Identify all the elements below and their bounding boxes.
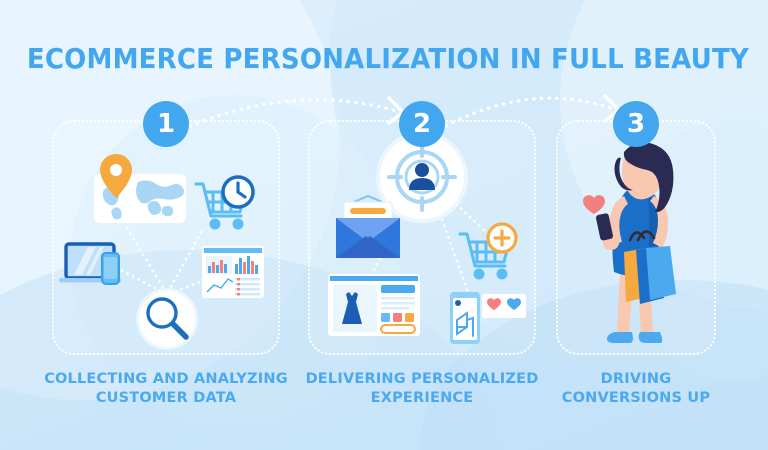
caption-line: COLLECTING AND ANALYZING [26, 370, 306, 389]
laptop-phone-icon [59, 244, 121, 284]
shoe-icon [639, 332, 663, 343]
caption-line: CONVERSIONS UP [550, 389, 722, 408]
step1-illustration [54, 122, 278, 353]
step2-illustration [310, 122, 534, 353]
product-page-dress-icon [328, 274, 420, 336]
step-panel-3 [556, 120, 716, 355]
heart-icon [583, 195, 605, 214]
infographic-canvas: ECOMMERCE PERSONALIZATION IN FULL BEAUTY [0, 0, 768, 450]
step-badge-3[interactable]: 3 [613, 101, 659, 147]
step-panel-1 [52, 120, 280, 355]
step-panel-2 [308, 120, 536, 355]
caption-line: DELIVERING PERSONALIZED [296, 370, 548, 389]
shopper-woman-illustration [583, 142, 676, 343]
page-title: ECOMMERCE PERSONALIZATION IN FULL BEAUTY [27, 42, 741, 75]
step-caption-1: COLLECTING AND ANALYZING CUSTOMER DATA [26, 370, 306, 408]
caption-line: CUSTOMER DATA [26, 389, 306, 408]
email-envelope-icon [336, 196, 400, 258]
caption-line: DRIVING [550, 370, 722, 389]
arrow-step2-to-step3 [442, 86, 632, 141]
caption-line: EXPERIENCE [296, 389, 548, 408]
step-badge-1[interactable]: 1 [143, 101, 189, 147]
step3-illustration [558, 122, 714, 353]
step-badge-2[interactable]: 2 [399, 101, 445, 147]
clock-icon [223, 177, 253, 207]
mobile-wishlist-icon [450, 292, 526, 344]
step-caption-2: DELIVERING PERSONALIZED EXPERIENCE [296, 370, 548, 408]
add-to-cart-icon [460, 224, 516, 278]
arrow-step1-to-step2 [186, 86, 416, 141]
analytics-chart-card-icon [202, 246, 264, 298]
shopping-bags-icon [624, 246, 676, 304]
step-caption-3: DRIVING CONVERSIONS UP [550, 370, 722, 408]
shoe-icon [607, 332, 633, 343]
magnifier-icon [136, 288, 198, 350]
